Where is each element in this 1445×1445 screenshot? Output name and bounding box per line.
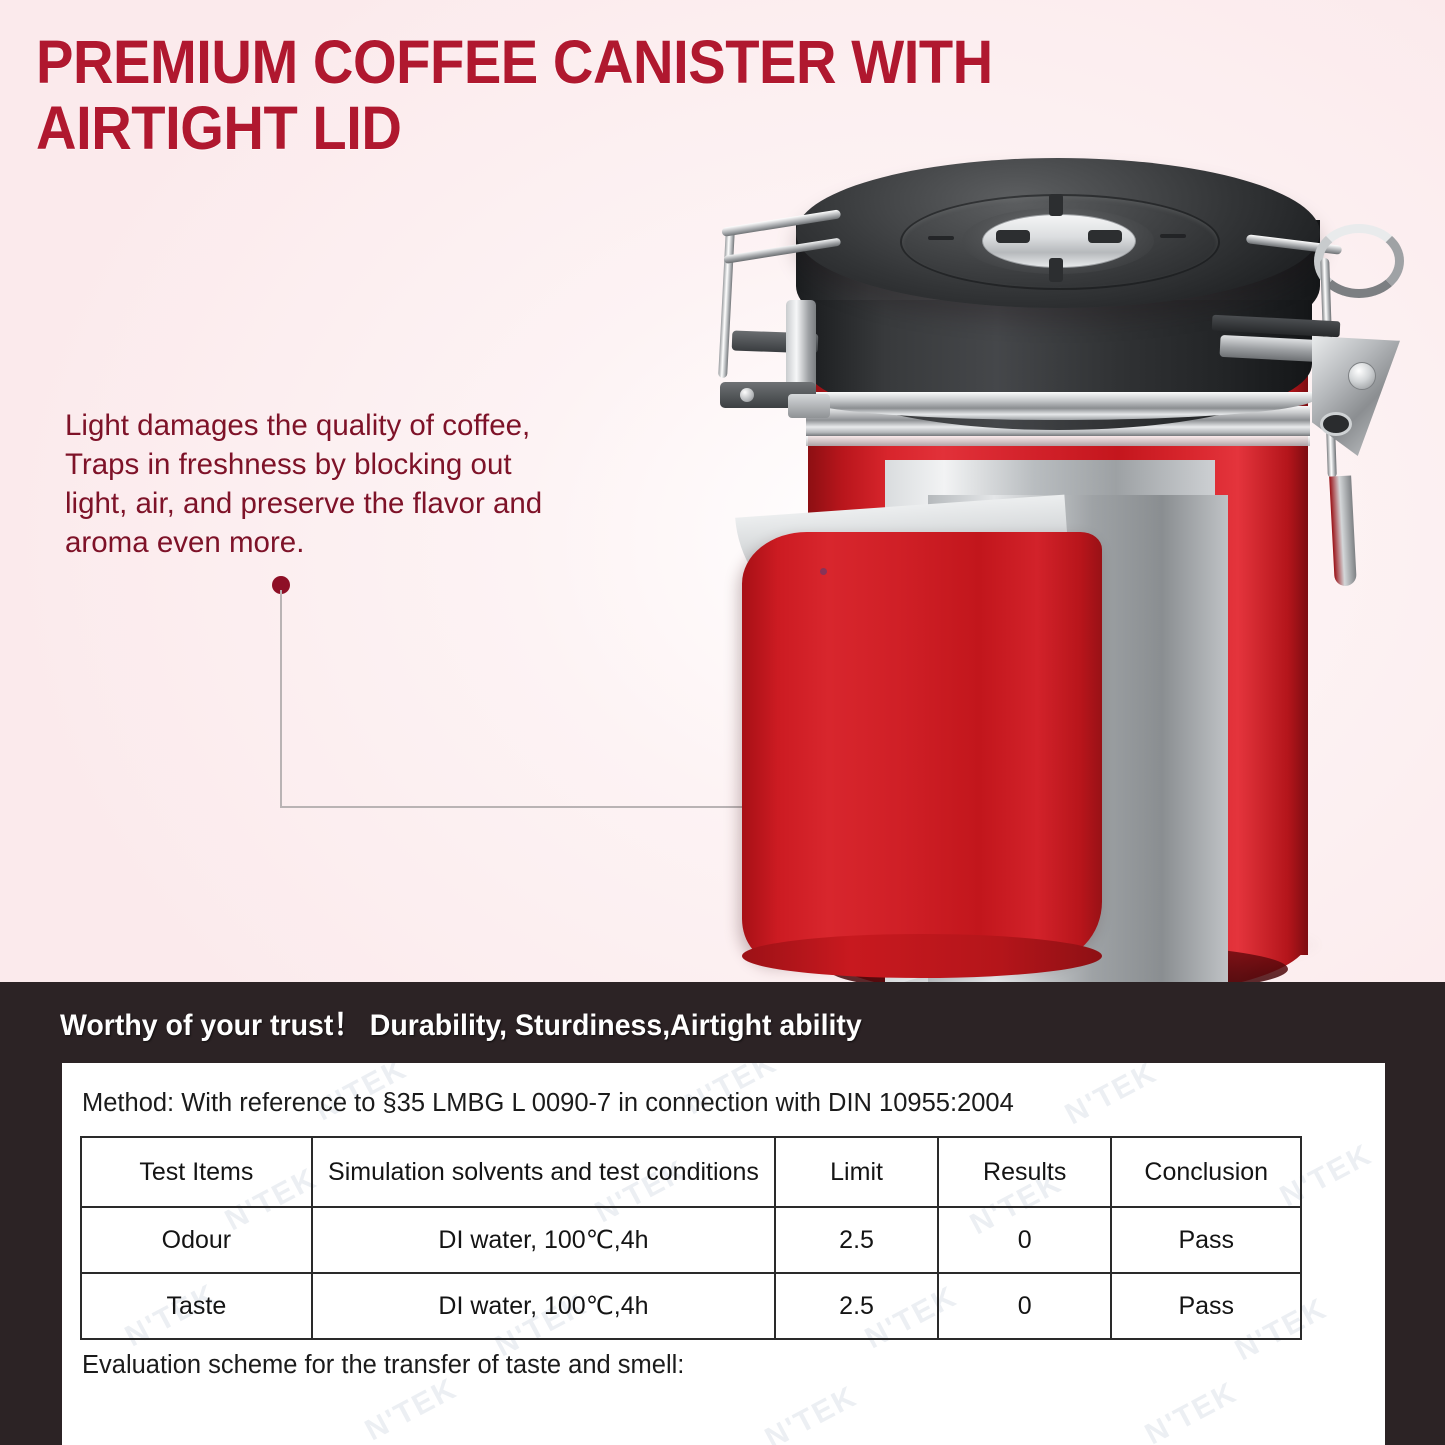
column-header-test-items: Test Items [81, 1137, 312, 1207]
hero-section: PREMIUM COFFEE CANISTER WITH AIRTIGHT LI… [0, 0, 1445, 982]
watermark: N'TEK [1140, 1376, 1243, 1445]
column-header-solvents: Simulation solvents and test conditions [312, 1137, 775, 1207]
trust-banner-text: Worthy of your trust！ Durability, Sturdi… [60, 1000, 862, 1044]
valve-tab-left [996, 230, 1030, 243]
callout-line-horizontal [280, 806, 750, 808]
wire-bail-left-vertical [718, 228, 735, 378]
red-outer-panel [742, 532, 1102, 962]
cell-limit: 2.5 [775, 1207, 938, 1273]
evaluation-scheme-text: Evaluation scheme for the transfer of ta… [82, 1351, 684, 1380]
cell-result: 0 [938, 1207, 1112, 1273]
table-row: Odour DI water, 100℃,4h 2.5 0 Pass [81, 1207, 1301, 1273]
watermark: N'TEK [760, 1380, 863, 1445]
valve-tab-top [1049, 194, 1063, 216]
table-header-row: Test Items Simulation solvents and test … [81, 1137, 1301, 1207]
clamp-screw-left [740, 388, 754, 402]
latch-tail [1329, 475, 1357, 586]
cell-test-item: Taste [81, 1273, 312, 1339]
valve-tab-bottom [1049, 258, 1063, 282]
cell-limit: 2.5 [775, 1273, 938, 1339]
callout-line-vertical [280, 590, 282, 808]
test-results-table: Test Items Simulation solvents and test … [80, 1136, 1302, 1340]
latch-screw [1348, 362, 1376, 390]
cell-result: 0 [938, 1273, 1112, 1339]
watermark: N'TEK [360, 1372, 463, 1445]
feature-description: Light damages the quality of coffee, Tra… [65, 406, 625, 562]
product-infographic: PREMIUM COFFEE CANISTER WITH AIRTIGHT LI… [0, 0, 1445, 1445]
clamp-plate-left [788, 394, 830, 418]
test-report-card: N'TEK N'TEK N'TEK N'TEK N'TEK N'TEK N'TE… [62, 1063, 1385, 1445]
column-header-conclusion: Conclusion [1111, 1137, 1301, 1207]
table-row: Taste DI water, 100℃,4h 2.5 0 Pass [81, 1273, 1301, 1339]
cell-solvent: DI water, 100℃,4h [312, 1273, 775, 1339]
panel-marker-dot [820, 568, 827, 575]
column-header-results: Results [938, 1137, 1112, 1207]
test-method-text: Method: With reference to §35 LMBG L 009… [82, 1089, 1014, 1118]
cell-test-item: Odour [81, 1207, 312, 1273]
cell-conclusion: Pass [1111, 1273, 1301, 1339]
lid-dash-left [928, 236, 954, 240]
lid-dash-right [1160, 234, 1186, 238]
latch-pivot-hole [1320, 412, 1352, 436]
cell-solvent: DI water, 100℃,4h [312, 1207, 775, 1273]
valve-tab-right [1088, 230, 1122, 243]
coffee-canister-image [700, 150, 1445, 982]
watermark: N'TEK [1060, 1063, 1163, 1132]
chrome-band-lower [806, 436, 1310, 446]
column-header-limit: Limit [775, 1137, 938, 1207]
cell-conclusion: Pass [1111, 1207, 1301, 1273]
latch-triangle-plate [1312, 336, 1400, 456]
page-title: PREMIUM COFFEE CANISTER WITH AIRTIGHT LI… [36, 30, 1122, 162]
